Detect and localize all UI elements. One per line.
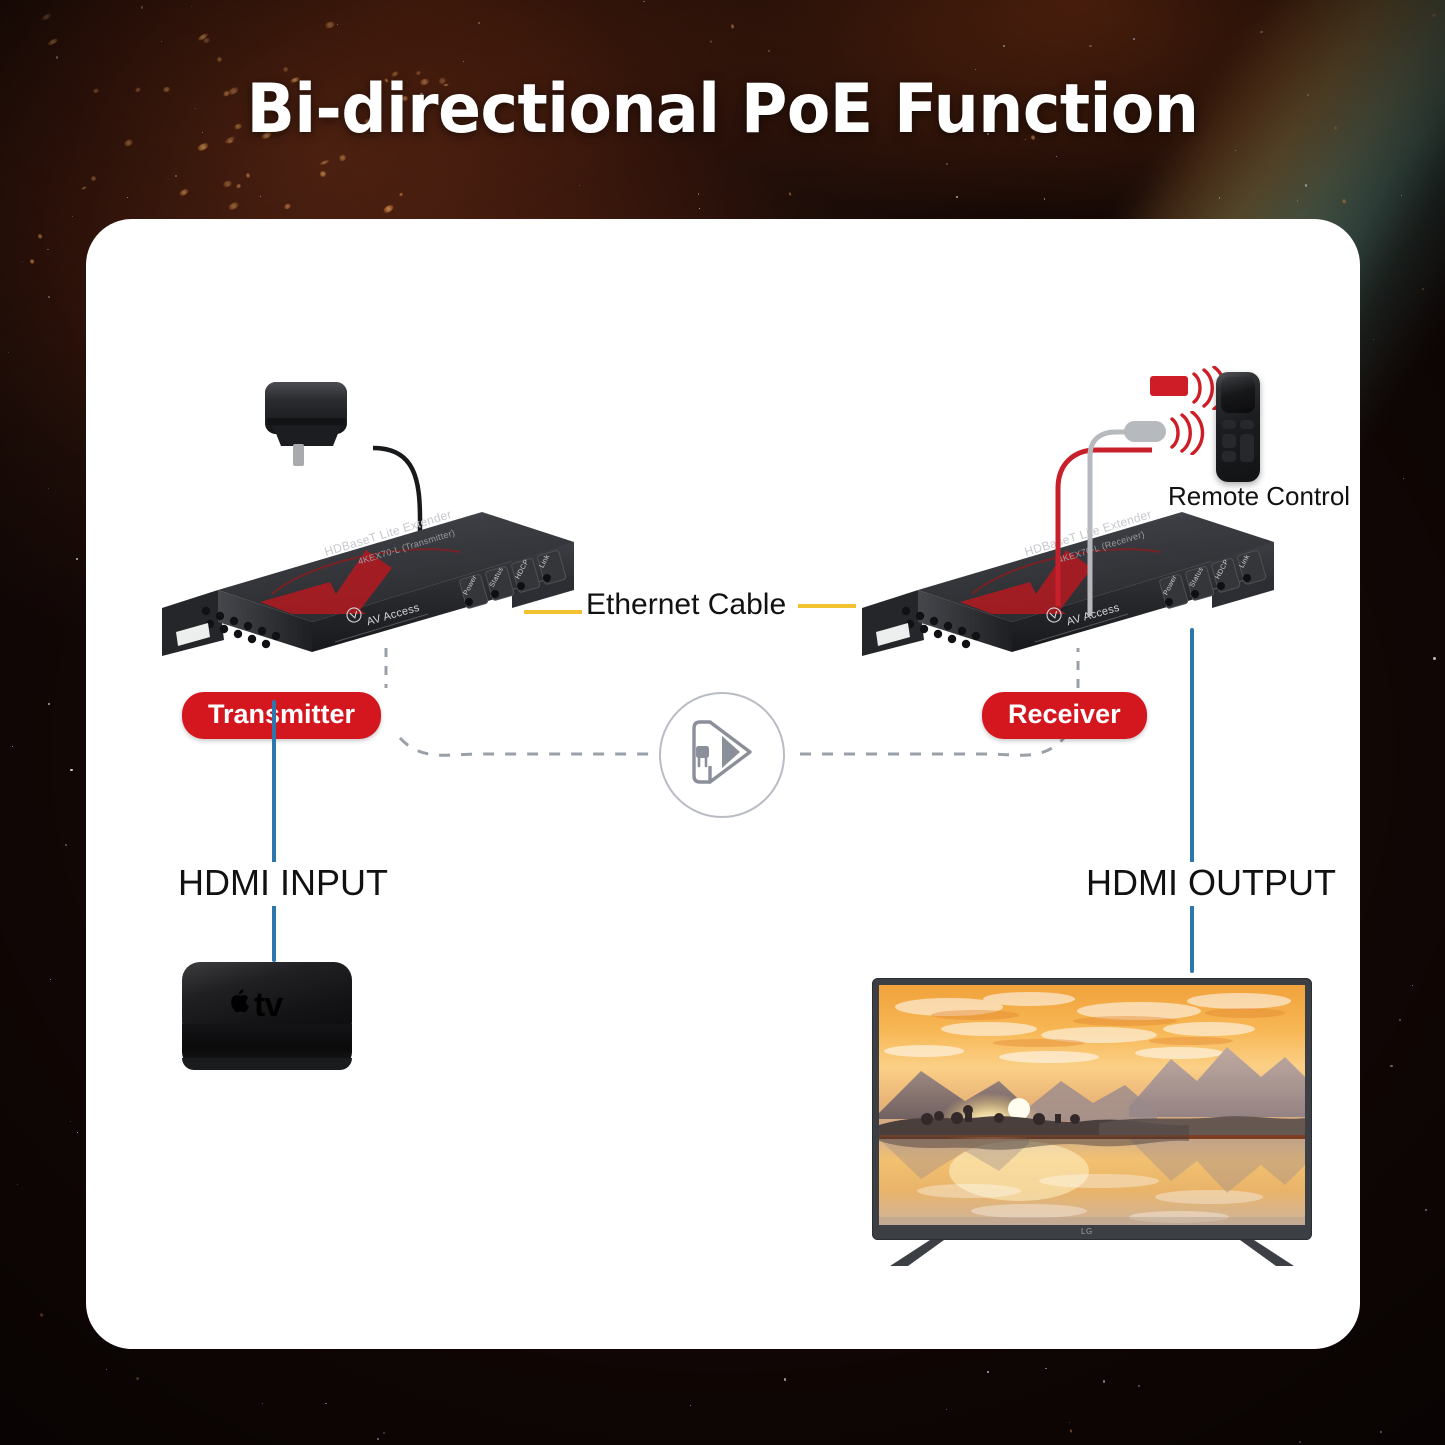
apple-tv-logo-text: tv (254, 986, 282, 1025)
remote-control-device[interactable] (1216, 372, 1260, 482)
transmitter-badge[interactable]: Transmitter (182, 692, 381, 739)
receiver-badge[interactable]: Receiver (982, 692, 1147, 739)
remote-touchpad[interactable] (1221, 377, 1255, 413)
remote-play-pause-button[interactable] (1222, 451, 1236, 462)
tv-brand-logo: LG (1081, 1227, 1093, 1236)
product-diagram-stage: Bi-directional PoE Function (0, 0, 1445, 1445)
television-device: LG (872, 978, 1312, 1268)
ir-receiver-signal-waves (1166, 411, 1210, 455)
remote-home-button[interactable] (1240, 420, 1254, 429)
remote-control-label: Remote Control (1168, 481, 1350, 512)
poe-play-plug-icon (678, 710, 764, 796)
page-title: Bi-directional PoE Function (51, 70, 1395, 149)
tv-stand-feet (872, 1236, 1312, 1270)
power-adapter-icon (255, 370, 385, 490)
hdmi-input-cable (272, 700, 276, 962)
hdmi-output-label: HDMI OUTPUT (1086, 862, 1336, 904)
hdmi-output-cable (1190, 628, 1194, 973)
ir-receiver-head-icon (1124, 421, 1166, 442)
tv-screen (879, 985, 1305, 1225)
apple-tv-base (182, 1058, 352, 1070)
apple-logo-icon (230, 986, 256, 1016)
ethernet-cable-label: Ethernet Cable (586, 588, 786, 622)
remote-mic-button[interactable] (1222, 434, 1236, 448)
remote-menu-button[interactable] (1222, 420, 1236, 429)
remote-volume-button[interactable] (1240, 434, 1254, 462)
hdmi-input-label: HDMI INPUT (178, 862, 388, 904)
ir-emitter-head-icon (1150, 376, 1188, 396)
apple-tv-device: tv (178, 962, 368, 1080)
